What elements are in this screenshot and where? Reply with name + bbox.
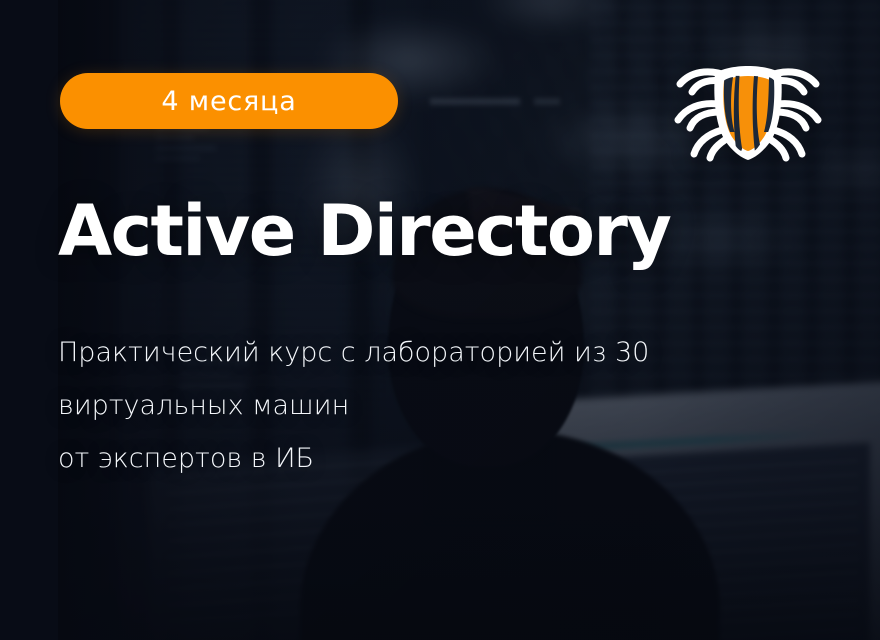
beetle-shield-logo (668, 52, 828, 164)
duration-badge-label: 4 месяца (161, 88, 296, 115)
course-description: Практический курс с лабораторией из 30 в… (58, 326, 798, 485)
description-line-2: виртуальных машин (58, 379, 798, 432)
course-banner: 4 месяца Active Directory Практический к… (0, 0, 880, 640)
banner-content: 4 месяца Active Directory Практический к… (0, 0, 880, 640)
duration-badge[interactable]: 4 месяца (60, 73, 398, 129)
description-line-1: Практический курс с лабораторией из 30 (58, 326, 798, 379)
description-line-3: от экспертов в ИБ (58, 432, 798, 485)
page-title: Active Directory (58, 196, 670, 266)
